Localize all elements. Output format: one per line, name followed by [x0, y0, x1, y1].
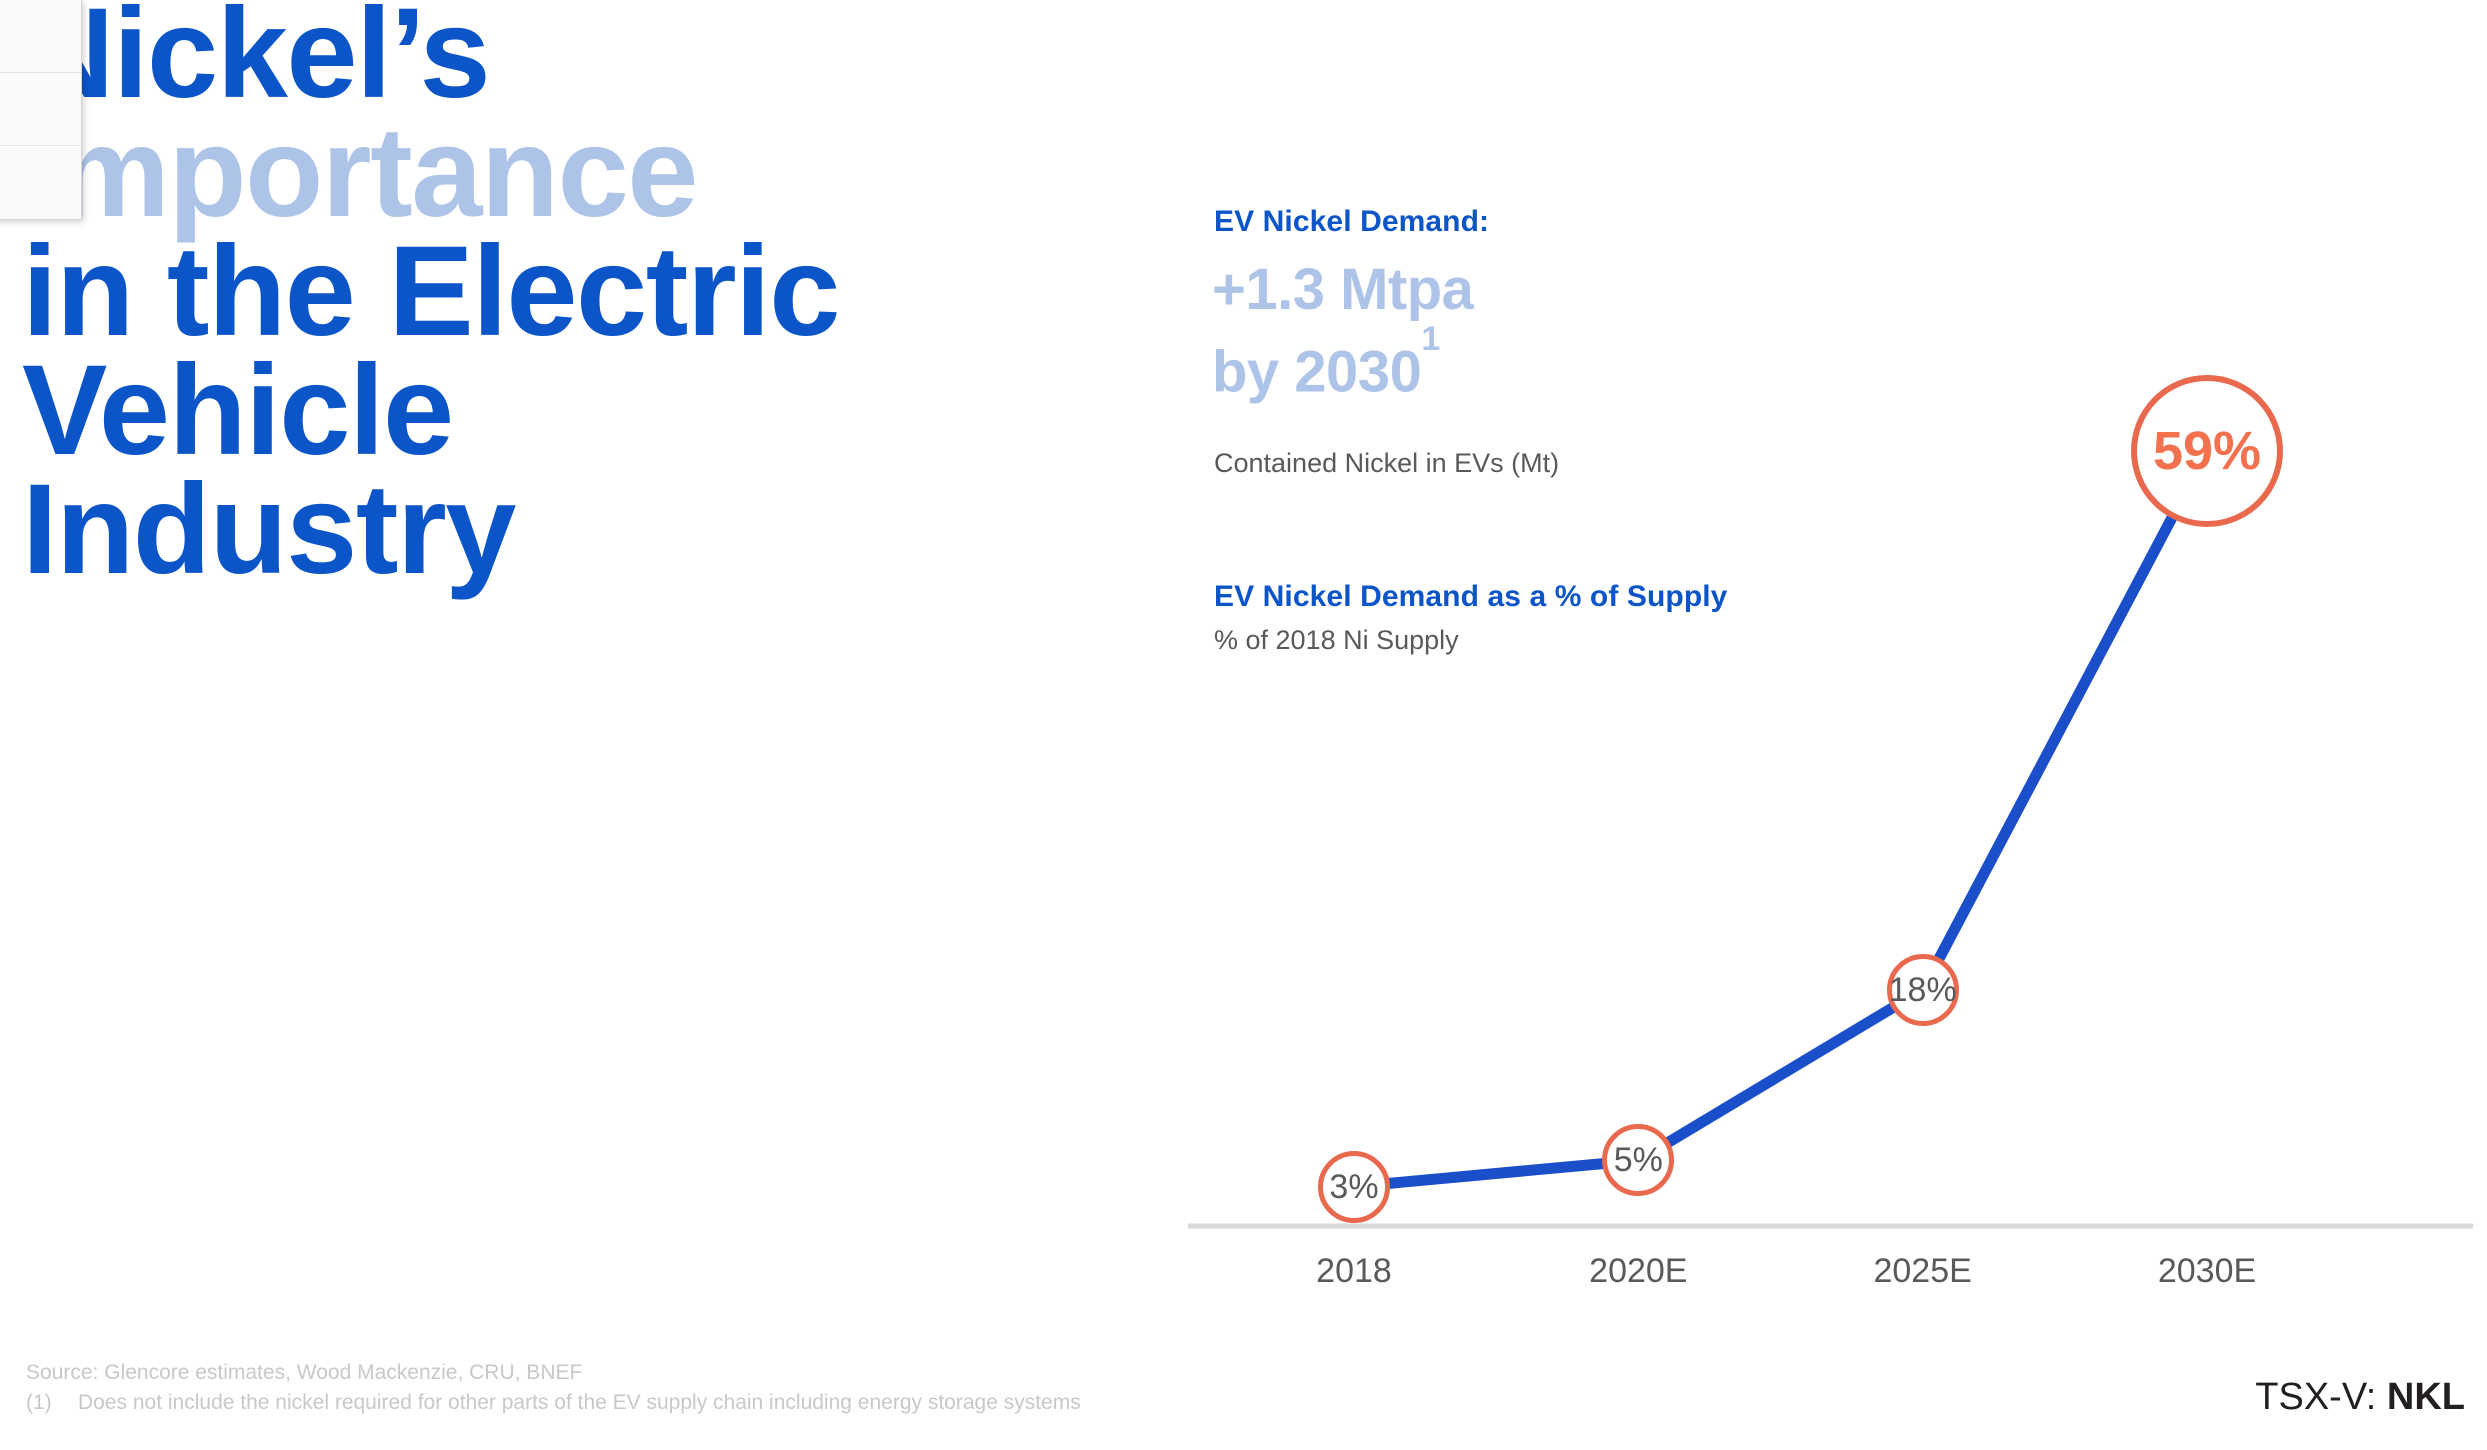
font-dropdown-menu[interactable]: d hrift: [0, 0, 82, 220]
x-axis-tick-2020e: 2020E: [1589, 1252, 1687, 1291]
data-point-label: 18%: [1889, 973, 1957, 1007]
footnote-marker-1: (1): [26, 1388, 78, 1418]
data-point-label: 59%: [2153, 424, 2261, 478]
ticker-symbol: NKL: [2387, 1376, 2465, 1418]
metrics-and-chart-panel: EV Nickel Demand: +1.3 Mtpa by 20301 Con…: [1214, 0, 2487, 1450]
page-title: Nickel’s Importance in the Electric Vehi…: [22, 0, 1202, 589]
menu-item-0[interactable]: [0, 0, 81, 73]
supply-share-line-chart: 3%5%18%59% 20182020E2025E2030E: [1188, 300, 2478, 1340]
title-line-1: Nickel’s: [22, 0, 1202, 113]
data-point-bubble-2018: 3%: [1318, 1151, 1390, 1223]
title-line-3: in the Electric: [22, 232, 1202, 351]
data-point-label: 5%: [1614, 1143, 1663, 1177]
title-line-4: Vehicle: [22, 351, 1202, 470]
data-point-label: 3%: [1329, 1170, 1378, 1204]
footnotes: Source: Glencore estimates, Wood Mackenz…: [26, 1358, 1081, 1418]
footnote-row-1: (1) Does not include the nickel required…: [26, 1388, 1081, 1418]
data-point-bubble-2025e: 18%: [1887, 954, 1959, 1026]
menu-item-2[interactable]: hrift: [0, 146, 81, 219]
slide-canvas: Nickel’s Importance in the Electric Vehi…: [0, 0, 2487, 1450]
source-text: Source: Glencore estimates, Wood Mackenz…: [26, 1358, 582, 1388]
footnote-text-1: Does not include the nickel required for…: [78, 1388, 1081, 1418]
title-line-2: Importance: [22, 113, 1202, 232]
ev-nickel-demand-kicker: EV Nickel Demand:: [1214, 205, 1489, 239]
source-row: Source: Glencore estimates, Wood Mackenz…: [26, 1358, 1081, 1388]
x-axis-tick-2025e: 2025E: [1873, 1252, 1971, 1291]
menu-item-1[interactable]: d: [0, 73, 81, 146]
x-axis-tick-2030e: 2030E: [2158, 1252, 2256, 1291]
data-point-bubble-2030e: 59%: [2131, 375, 2283, 527]
series-line-ev-nickel-share: [1354, 451, 2207, 1186]
title-line-5: Industry: [22, 470, 1202, 589]
stock-ticker: TSX-V: NKL: [2255, 1376, 2465, 1419]
x-axis-tick-2018: 2018: [1316, 1252, 1392, 1291]
ticker-exchange: TSX-V:: [2255, 1376, 2387, 1418]
